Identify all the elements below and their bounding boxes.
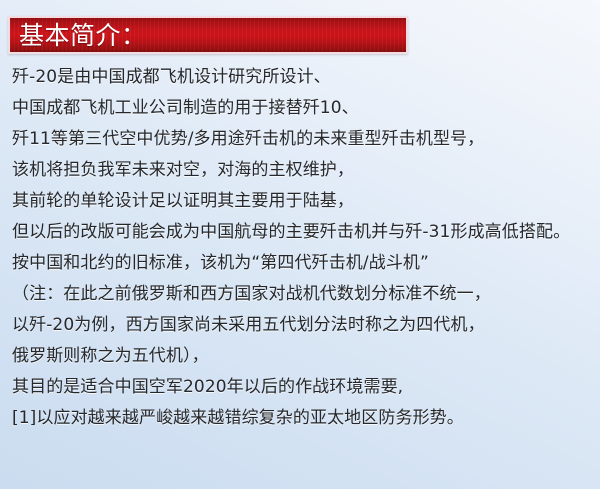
body-line: 其目的是适合中国空军2020年以后的作战环境需要, [12,372,592,403]
body-line: （注：在此之前俄罗斯和西方国家对战机代数划分标准不统一， [12,279,592,310]
body-line: 其前轮的单轮设计足以证明其主要用于陆基， [12,186,592,217]
body-line: [1]以应对越来越严峻越来越错综复杂的亚太地区防务形势。 [12,403,592,434]
body-line: 以歼-20为例，西方国家尚未采用五代划分法时称之为四代机， [12,310,592,341]
section-title-banner: 基本简介： [8,16,408,54]
page-title: 基本简介： [10,23,147,48]
body-line: 但以后的改版可能会成为中国航母的主要歼击机并与歼-31形成高低搭配。 [12,217,592,248]
body-line: 按中国和北约的旧标准，该机为“第四代歼击机/战斗机” [12,248,592,279]
body-line: 歼-20是由中国成都飞机设计研究所设计、 [12,62,592,93]
body-line: 中国成都飞机工业公司制造的用于接替歼10、 [12,93,592,124]
body-line: 歼11等第三代空中优势/多用途歼击机的未来重型歼击机型号， [12,124,592,155]
body-line: 俄罗斯则称之为五代机）， [12,341,592,372]
body-text-block: 歼-20是由中国成都飞机设计研究所设计、 中国成都飞机工业公司制造的用于接替歼1… [12,62,592,434]
slide-canvas: 基本简介： 歼-20是由中国成都飞机设计研究所设计、 中国成都飞机工业公司制造的… [0,0,600,489]
body-line: 该机将担负我军未来对空，对海的主权维护， [12,155,592,186]
